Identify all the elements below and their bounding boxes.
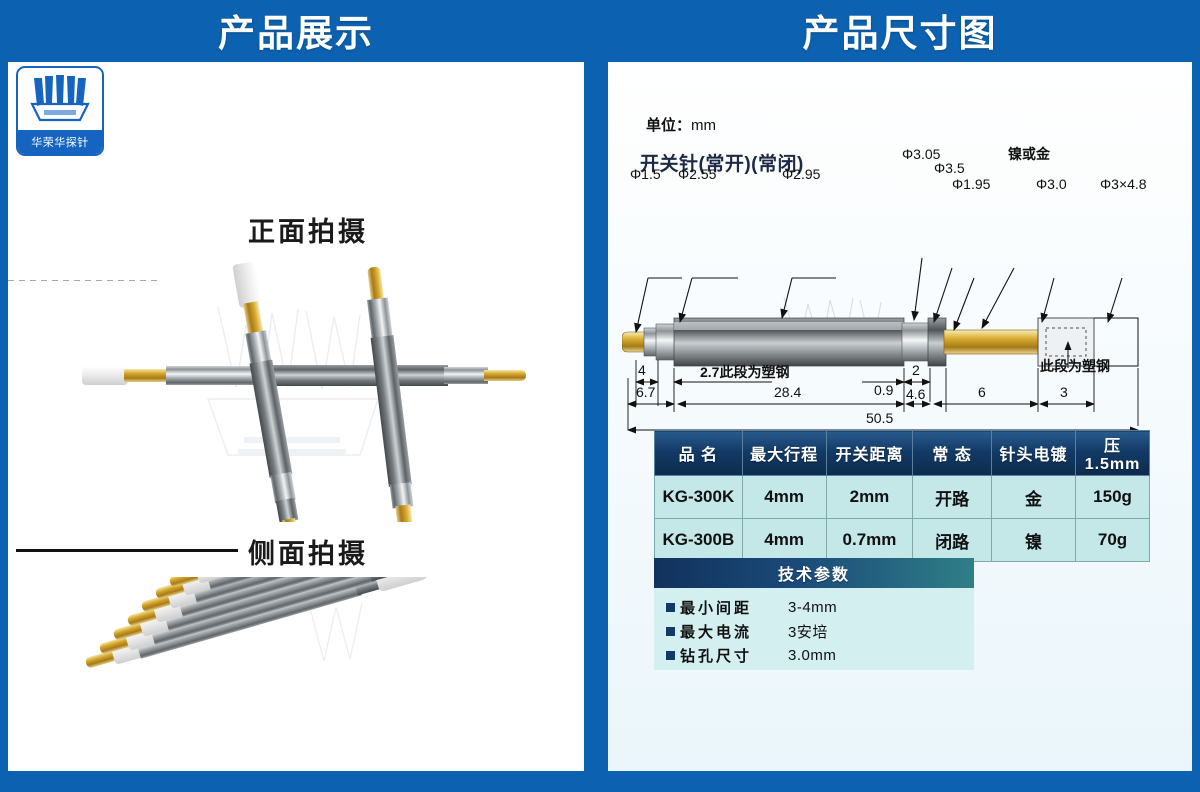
spec-cell-switch-0: 2mm [826, 476, 913, 519]
spec-cell-stroke-1: 4mm [742, 519, 826, 562]
dim-label-d1: Φ1.5 [630, 166, 661, 182]
dim-label-total: 50.5 [866, 410, 893, 426]
dim-label-d8: Φ3.0 [1036, 176, 1067, 192]
square-bullet-icon [666, 627, 675, 636]
tech-params-list: 最小间距 3-4mm 最大电流 3安培 钻孔尺寸 3.0mm [654, 588, 974, 667]
dim-label-d2: Φ2.55 [678, 166, 716, 182]
spec-table-header-row: 品 名 最大行程 开关距离 常 态 针头电镀 压1.5mm [655, 431, 1150, 476]
spec-header-plating: 针头电镀 [991, 431, 1075, 476]
spec-cell-plating-1: 镍 [991, 519, 1075, 562]
logo-brand-text: 华荣华探针 [18, 130, 102, 154]
probe-dimension-drawing: Φ1.5 Φ2.55 Φ2.95 Φ3.05 Φ3.5 Φ1.95 镍或金 Φ3… [622, 182, 1182, 462]
dim-label-d3: Φ2.95 [782, 166, 820, 182]
unit-value: mm [691, 117, 716, 134]
dim-label-d5: Φ3.5 [934, 160, 965, 176]
dim-label-m9: 3 [1060, 384, 1068, 400]
tech-param-value-2: 3.0mm [788, 647, 836, 664]
square-bullet-icon [666, 651, 675, 660]
dim-label-m8: 6 [978, 384, 986, 400]
spec-cell-name-1: KG-300B [655, 519, 743, 562]
table-row: KG-300B 4mm 0.7mm 闭路 镍 70g [655, 519, 1150, 562]
crossed-probe-pins-front-photo [68, 257, 528, 522]
spec-cell-force-0: 150g [1076, 476, 1150, 519]
dim-label-m6: 2 [912, 362, 920, 378]
dim-label-material: 镍或金 [1008, 144, 1050, 164]
product-display-panel: 产品展示 华荣华探针 正面拍摄 [0, 0, 592, 779]
product-spec-table: 品 名 最大行程 开关距离 常 态 针头电镀 压1.5mm KG-300K 4m… [654, 430, 1150, 562]
tech-param-value-0: 3-4mm [788, 599, 837, 616]
technical-parameters-box: 技术参数 最小间距 3-4mm 最大电流 3安培 钻孔尺寸 [654, 558, 974, 670]
dim-label-m3: 2.7此段为塑钢 [700, 362, 789, 382]
drawing-svg [622, 182, 1182, 462]
tech-param-row-2: 钻孔尺寸 3.0mm [666, 643, 974, 667]
spec-header-name: 品 名 [655, 431, 743, 476]
spec-header-stroke: 最大行程 [742, 431, 826, 476]
crown-cup-logo-icon [18, 70, 102, 128]
tech-param-key-1: 最大电流 [680, 621, 788, 642]
dim-label-m1: 4 [638, 362, 646, 378]
spec-cell-name-0: KG-300K [655, 476, 743, 519]
product-spec-page: 产品展示 华荣华探针 正面拍摄 [0, 0, 1200, 779]
spec-cell-state-1: 闭路 [913, 519, 992, 562]
right-panel-body: 单位：mm 开关针(常开)(常闭) [608, 62, 1192, 771]
right-panel-title: 产品尺寸图 [600, 0, 1200, 60]
left-panel-title: 产品展示 [0, 0, 592, 60]
dim-label-d6: Φ1.95 [952, 176, 990, 192]
front-photo-label: 正面拍摄 [248, 210, 368, 249]
spec-header-force: 压1.5mm [1076, 431, 1150, 476]
dim-label-m10: 此段为塑钢 [1040, 356, 1110, 376]
table-row: KG-300K 4mm 2mm 开路 金 150g [655, 476, 1150, 519]
spec-header-state: 常 态 [913, 431, 992, 476]
tech-param-key-2: 钻孔尺寸 [680, 645, 788, 666]
square-bullet-icon [666, 603, 675, 612]
spec-header-switch: 开关距离 [826, 431, 913, 476]
product-dimension-panel: 产品尺寸图 单位：mm 开关针(常开)(常闭) [600, 0, 1200, 779]
dim-label-m5: 0.9 [874, 382, 893, 398]
tech-params-title: 技术参数 [654, 558, 974, 588]
spec-cell-plating-0: 金 [991, 476, 1075, 519]
tech-param-key-0: 最小间距 [680, 597, 788, 618]
dim-label-m7: 4.6 [906, 386, 925, 402]
spec-cell-stroke-0: 4mm [742, 476, 826, 519]
tech-param-row-1: 最大电流 3安培 [666, 619, 974, 643]
left-panel-body: 华荣华探针 正面拍摄 [8, 62, 584, 771]
dim-label-m2: 6.7 [636, 384, 655, 400]
probe-pins-row-side-photo [78, 577, 528, 792]
dim-label-m4: 28.4 [774, 384, 801, 400]
drawing-title: 开关针(常开)(常闭) [640, 149, 804, 176]
spec-cell-state-0: 开路 [913, 476, 992, 519]
company-logo: 华荣华探针 [16, 66, 104, 156]
dim-label-d9: Φ3×4.8 [1100, 176, 1147, 192]
tech-param-row-0: 最小间距 3-4mm [666, 595, 974, 619]
spec-cell-force-1: 70g [1076, 519, 1150, 562]
unit-note: 单位：mm [646, 114, 716, 135]
tech-param-value-1: 3安培 [788, 621, 828, 642]
side-photo-label: 侧面拍摄 [248, 532, 368, 571]
unit-label: 单位： [646, 117, 691, 134]
spec-cell-switch-1: 0.7mm [826, 519, 913, 562]
side-section-rule [16, 549, 238, 552]
